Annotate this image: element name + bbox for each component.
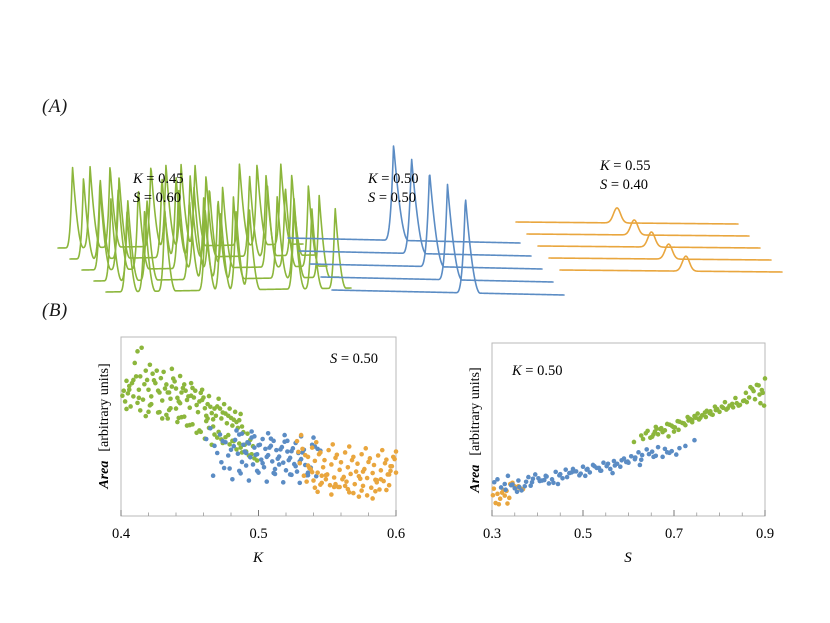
data-point-blue [522,484,527,489]
data-point-green [719,404,724,409]
data-point-orange [324,477,329,482]
data-point-orange [311,478,316,483]
data-point-green [736,403,741,408]
data-point-orange [313,485,318,490]
x-tick-label: 0.4 [112,526,131,542]
data-point-orange [343,484,348,489]
data-point-green [209,411,214,416]
data-point-green [208,405,213,410]
data-point-blue [260,461,265,466]
data-point-orange [383,461,388,466]
data-point-blue [495,477,500,482]
x-axis-label-k: K [252,550,264,566]
data-point-green [128,404,133,409]
data-point-blue [563,467,568,472]
data-point-green [176,399,181,404]
data-point-green [179,390,184,395]
data-point-blue [311,435,316,440]
data-point-green [240,424,245,429]
data-point-green [148,362,153,367]
data-point-orange [329,492,334,497]
data-point-green [742,398,747,403]
data-point-orange [318,482,323,487]
data-point-blue [267,445,272,450]
data-point-blue [601,460,606,465]
data-point-orange [359,488,364,493]
data-point-orange [502,493,507,498]
x-tick-labels-s: 0.30.50.70.9 [483,526,774,542]
data-point-green [733,396,738,401]
data-point-orange [505,501,510,506]
data-point-orange [344,479,349,484]
data-point-green [174,386,179,391]
orange-trace-group [516,208,782,272]
data-point-green [142,382,147,387]
data-point-green [666,434,671,439]
data-point-orange [348,472,353,477]
scatter-area-vs-k: 0.40.50.6 K Area [arbitrary units] S = 0… [30,330,430,590]
data-point-blue [583,474,588,479]
data-point-orange [328,483,333,488]
data-point-blue [510,482,515,487]
data-point-orange [310,445,315,450]
data-point-orange [394,449,399,454]
data-point-green [194,430,199,435]
data-point-blue [674,452,679,457]
data-point-green [723,400,728,405]
data-point-green [124,379,129,384]
data-point-orange [394,470,399,475]
data-point-green [212,432,217,437]
data-point-green [698,415,703,420]
data-point-green [135,401,140,406]
data-point-green [713,404,718,409]
data-point-green [172,379,177,384]
data-point-blue [638,463,643,468]
data-point-blue [281,480,286,485]
data-point-blue [281,460,286,465]
data-point-orange [370,496,375,501]
data-point-orange [300,447,305,452]
data-point-orange [359,452,364,457]
data-point-blue [499,485,504,490]
data-point-blue [503,487,508,492]
data-point-blue [237,469,242,474]
data-point-green [161,370,166,375]
data-point-orange [370,471,375,476]
data-point-green [178,374,183,379]
data-point-green [163,386,168,391]
data-point-blue [269,436,274,441]
data-point-green [756,383,761,388]
data-point-orange [372,463,377,468]
data-point-orange [357,474,362,479]
data-point-blue [585,467,590,472]
data-point-blue [531,477,536,482]
data-point-orange [392,457,397,462]
data-point-green [139,345,144,350]
data-point-orange [379,477,384,482]
data-point-blue [240,460,245,465]
data-point-orange [387,483,392,488]
data-point-orange [363,446,368,451]
data-point-green [138,374,143,379]
data-point-green [656,432,661,437]
data-point-blue [241,442,246,447]
data-point-blue [547,481,552,486]
data-point-blue [249,429,254,434]
data-point-orange [495,492,500,497]
data-point-green [762,403,767,408]
data-point-orange [390,464,395,469]
data-point-orange [302,473,307,478]
data-point-green [658,427,663,432]
data-point-blue [553,470,558,475]
data-point-orange [369,485,374,490]
data-point-blue [248,455,253,460]
data-point-orange [365,493,370,498]
data-point-orange [310,470,315,475]
data-point-orange [319,473,324,478]
data-point-green [676,428,681,433]
data-point-green [200,388,205,393]
data-point-orange [314,440,319,445]
data-point-blue [295,469,300,474]
data-point-blue [597,466,602,471]
data-point-blue [208,426,213,431]
data-point-green [667,422,672,427]
data-point-blue [273,467,278,472]
data-point-green [238,412,243,417]
data-point-green [167,408,172,413]
data-point-blue [264,455,269,460]
data-point-blue [524,479,529,484]
data-point-orange [379,468,384,473]
data-point-blue [218,432,223,437]
data-point-orange [351,491,356,496]
x-axis-ticks-s [492,510,765,516]
data-point-green [225,421,230,426]
data-point-green [131,394,136,399]
data-point-green [157,390,162,395]
data-point-orange [380,448,385,453]
data-point-green [218,406,223,411]
data-point-blue [558,472,563,477]
data-point-green [651,432,656,437]
data-point-blue [277,462,282,467]
data-point-orange [388,469,393,474]
data-point-blue [610,471,615,476]
data-point-green [196,410,201,415]
data-point-blue [629,454,634,459]
data-point-blue [578,471,583,476]
data-point-orange [296,450,301,455]
data-point-orange [332,475,337,480]
green-annot-s: S = 0.60 [133,190,181,206]
data-point-blue [537,479,542,484]
green-trace-group [58,164,351,292]
data-point-blue [613,463,618,468]
data-point-orange [337,485,342,490]
data-point-blue [242,449,247,454]
data-point-blue [264,479,269,484]
data-point-orange [306,463,311,468]
x-tick-labels-k: 0.40.50.6 [112,526,405,542]
y-axis-label-emph-s: Area [468,465,483,494]
data-point-blue [692,438,697,443]
data-point-orange [498,496,503,501]
data-point-green [137,396,142,401]
data-point-orange [347,444,352,449]
data-point-green [175,420,180,425]
data-point-blue [253,452,258,457]
data-point-green [237,441,242,446]
data-point-blue [263,447,268,452]
data-point-blue [256,470,261,475]
x-axis-label-s: S [624,550,632,566]
data-point-green [226,433,231,438]
data-point-green [641,437,646,442]
data-points-k [120,345,398,500]
data-point-blue [533,472,538,477]
data-point-blue [274,448,279,453]
data-point-blue [289,473,294,478]
data-point-blue [636,450,641,455]
data-point-orange [376,453,381,458]
blue-annot-s: S = 0.50 [368,190,416,206]
data-point-green [176,416,181,421]
data-point-blue [542,478,547,483]
data-point-blue [502,482,507,487]
scatter-area-vs-s: 0.30.50.70.9 S Area [arbitrary units] K … [400,330,800,590]
data-point-orange [333,482,338,487]
data-point-green [760,388,765,393]
data-point-blue [231,444,236,449]
data-point-orange [297,461,302,466]
data-point-blue [222,466,227,471]
data-point-blue [506,474,511,479]
data-point-green [146,388,151,393]
data-point-blue [677,446,682,451]
data-point-blue [256,443,261,448]
data-point-green [174,406,179,411]
data-point-blue [683,444,688,449]
data-point-green [654,425,659,430]
data-point-green [204,419,209,424]
data-point-blue [633,455,638,460]
data-point-green [230,423,235,428]
annotation-k-s: K = 0.50 [511,363,562,379]
data-point-green [708,409,713,414]
data-point-green [192,395,197,400]
data-point-orange [365,476,370,481]
data-point-blue [252,434,257,439]
data-point-blue [515,489,520,494]
data-point-green [690,418,695,423]
data-point-blue [215,451,220,456]
data-point-blue [251,462,256,467]
data-point-green [672,429,677,434]
data-point-blue [297,481,302,486]
data-point-green [763,376,768,381]
data-point-blue [284,468,289,473]
data-point-green [193,388,198,393]
data-point-blue [556,482,561,487]
data-point-green [123,399,128,404]
data-point-orange [337,468,342,473]
data-point-blue [565,475,570,480]
data-point-blue [252,445,257,450]
data-point-orange [299,433,304,438]
data-point-blue [219,460,224,465]
data-point-green [189,381,194,386]
data-point-orange [317,452,322,457]
data-point-orange [321,465,326,470]
data-point-green [233,410,238,415]
data-point-orange [347,490,352,495]
data-point-blue [618,464,623,469]
y-axis-label-rest-k: [arbitrary units] [97,363,112,451]
data-point-blue [233,438,238,443]
data-point-green [704,415,709,420]
data-point-blue [245,440,250,445]
data-point-green [168,396,173,401]
data-point-green [130,381,135,386]
y-axis-label-s: Area [arbitrary units] [466,367,483,493]
data-point-green [682,421,687,426]
data-point-orange [330,442,335,447]
data-point-green [245,431,250,436]
data-point-green [645,429,650,434]
data-point-green [203,406,208,411]
data-point-green [222,402,227,407]
orange-annot-k: K = 0.55 [599,158,650,174]
data-point-orange [339,460,344,465]
data-point-green [137,388,142,393]
data-point-green [725,406,730,411]
data-point-green [730,402,735,407]
data-point-green [186,394,191,399]
data-point-green [143,414,148,419]
data-point-green [149,394,154,399]
data-point-green [150,371,155,376]
data-point-green [127,388,132,393]
y-axis-label-emph-k: Area [97,461,112,490]
data-point-orange [322,458,327,463]
data-point-blue [651,455,656,460]
data-point-blue [266,431,271,436]
data-point-blue [306,473,311,478]
data-point-green [164,413,169,418]
data-point-green [164,382,169,387]
data-point-blue [560,476,565,481]
data-point-orange [357,494,362,499]
data-point-orange [497,502,502,507]
data-point-green [227,406,232,411]
data-point-blue [285,449,290,454]
data-point-orange [346,465,351,470]
data-point-blue [293,464,298,469]
data-point-green [156,410,161,415]
data-point-green [750,387,755,392]
data-point-orange [492,486,497,491]
data-point-blue [528,483,533,488]
data-point-blue [644,447,649,452]
data-point-orange [491,493,496,498]
data-point-green [744,391,749,396]
data-point-orange [329,462,334,467]
data-point-green [148,403,153,408]
blue-annot-k: K = 0.50 [367,171,418,187]
blue-trace [321,184,553,282]
data-point-blue [647,452,652,457]
data-point-blue [227,466,232,471]
data-point-green [143,368,148,373]
data-point-green [170,384,175,389]
data-point-blue [273,472,278,477]
data-point-green [753,397,758,402]
data-point-orange [377,487,382,492]
data-point-orange [373,489,378,494]
data-point-green [160,416,165,421]
data-point-green [152,378,157,383]
data-point-orange [326,448,331,453]
data-point-green [160,398,165,403]
data-point-green [685,415,690,420]
orange-annot-s: S = 0.40 [600,177,648,193]
data-point-blue [220,439,225,444]
data-point-orange [295,439,300,444]
data-point-orange [374,480,379,485]
data-point-green [237,418,242,423]
data-point-orange [343,450,348,455]
data-point-orange [304,479,309,484]
data-point-blue [211,473,216,478]
orange-trace [516,208,738,224]
panel-a-traces: K = 0.45 S = 0.60 K = 0.50 S = 0.50 K = … [0,110,830,295]
data-point-orange [352,482,357,487]
data-point-orange [361,469,366,474]
data-point-green [124,407,129,412]
data-point-blue [278,447,283,452]
data-point-green [227,442,232,447]
data-point-blue [660,455,665,460]
data-point-blue [244,463,249,468]
data-point-blue [230,477,235,482]
x-tick-label: 0.3 [483,526,501,542]
data-point-blue [234,428,239,433]
x-tick-label: 0.7 [665,526,683,542]
data-point-orange [340,477,345,482]
data-point-blue [285,439,290,444]
data-point-orange [350,458,355,463]
data-point-blue [240,431,245,436]
data-point-blue [289,449,294,454]
data-point-green [632,440,637,445]
data-point-blue [581,464,586,469]
data-point-blue [640,453,645,458]
panel-b-label: (B) [42,300,68,322]
data-point-green [214,413,219,418]
x-tick-label: 0.9 [756,526,774,542]
data-point-green [677,419,682,424]
data-point-blue [236,451,241,456]
annotation-s-k: S = 0.50 [330,351,378,367]
figure-root: (A) (B) K = 0.45 S = 0.60 K = 0.50 S = 0… [0,0,830,623]
data-point-green [134,374,139,379]
data-point-green [141,397,146,402]
data-point-green [216,396,221,401]
